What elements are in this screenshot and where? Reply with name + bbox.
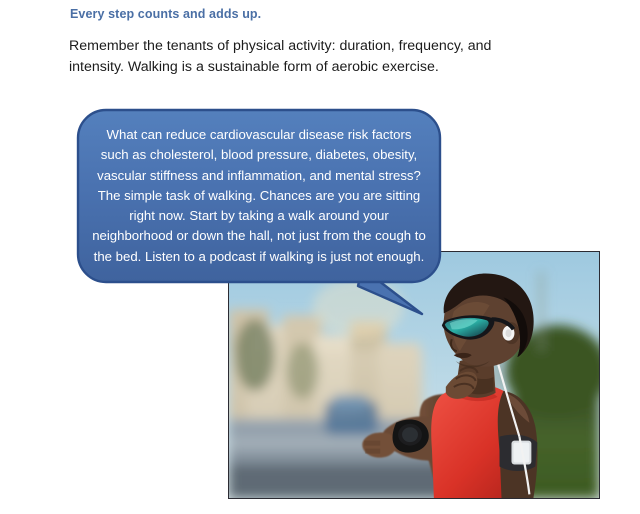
- page-root: Every step counts and adds up. Remember …: [0, 0, 640, 514]
- body-paragraph: Remember the tenants of physical activit…: [69, 36, 549, 78]
- page-title: Every step counts and adds up.: [70, 6, 590, 22]
- walking-photo: [228, 251, 600, 499]
- speech-bubble-text-content: What can reduce cardiovascular disease r…: [92, 125, 426, 267]
- photo-illustration: [229, 252, 599, 498]
- speech-bubble-text: What can reduce cardiovascular disease r…: [78, 116, 440, 276]
